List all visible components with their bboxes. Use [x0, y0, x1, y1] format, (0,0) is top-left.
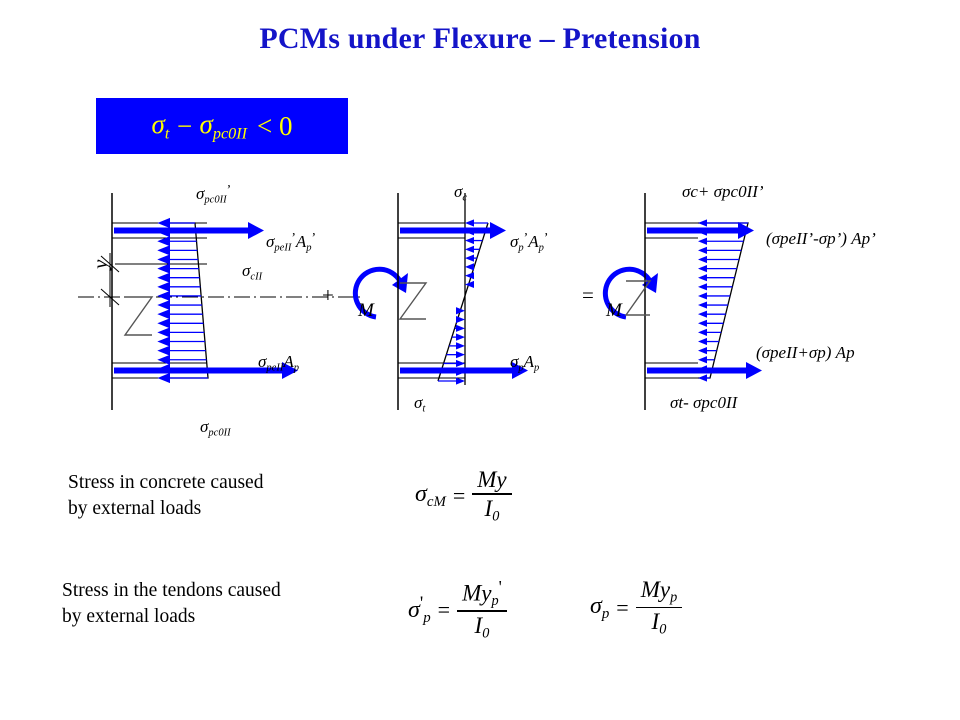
stress-arrow-12-head: [160, 329, 169, 336]
stress-arrow-13-head: [456, 334, 465, 341]
stress-profile-outline: [160, 223, 208, 378]
upper-tendon-arrowhead: [490, 222, 506, 239]
d3-top-force-label: (σpeII’-σp’) Ap’: [766, 229, 876, 249]
slide-root: PCMs under Flexure – Pretension σt − σpc…: [0, 0, 960, 720]
stress-arrow-6-head: [160, 274, 169, 281]
note-tendon-stress: Stress in the tendons caused by external…: [62, 578, 392, 630]
d2-bottom-label: σt: [414, 393, 425, 414]
note-concrete-line1: Stress in concrete caused: [68, 470, 368, 496]
stress-arrow-11-head: [456, 316, 465, 323]
d2-moment-label: M: [358, 300, 374, 322]
stress-arrow-4-head: [160, 256, 169, 263]
equation-sigma-cM-numerator: My: [472, 468, 511, 493]
equation-sigma-p-numerator: Myp: [636, 578, 683, 607]
d1-axis-label: σcII: [242, 261, 262, 282]
stress-arrow-group: [160, 219, 208, 381]
d2-bottom-force-label: σpAp: [510, 352, 539, 373]
equation-sigma-cM-fraction: My I0: [472, 468, 511, 524]
equation-sigma-p-relation: =: [616, 595, 628, 621]
equation-sigma-p-prime-lhs: σ'p: [408, 593, 431, 627]
d3-bottom-force-label: (σpeII+σp) Ap: [756, 343, 855, 363]
stress-arrow-15-head: [698, 356, 707, 363]
operator-plus: +: [322, 283, 334, 308]
equation-sigma-p-fraction: Myp I0: [636, 578, 683, 638]
stress-arrow-10-head: [160, 311, 169, 318]
stress-profile-line: [438, 223, 488, 381]
stress-arrow-15-head: [456, 351, 465, 358]
equation-sigma-p-prime-denominator: I0: [470, 612, 495, 642]
d1-bottom-label: σpc0II: [200, 417, 231, 438]
d1-top-force-label: σpeII’Ap’: [266, 230, 316, 254]
upper-tendon-arrowhead: [248, 222, 264, 239]
stress-arrow-4-head: [698, 256, 707, 263]
note-tendon-line2: by external loads: [62, 604, 392, 630]
stress-arrow-17-head: [160, 374, 169, 381]
inequality-box: σt − σpc0II < 0: [96, 98, 348, 154]
stress-arrow-group: [698, 219, 748, 381]
stress-arrow-14-head: [456, 342, 465, 349]
stress-arrow-5-head: [465, 263, 474, 270]
inequality-sigma-pc0II: σpc0II: [200, 109, 247, 144]
stress-arrow-8-head: [698, 292, 707, 299]
d1-top-label: σpc0II’: [196, 182, 231, 206]
stress-arrow-0-head: [160, 219, 169, 226]
stress-arrow-2-head: [698, 238, 707, 245]
stress-arrow-15-head: [160, 356, 169, 363]
d3-top-label: σc+ σpc0II’: [682, 182, 764, 202]
inequality-minus: −: [175, 111, 193, 142]
d2-top-force-label: σp’Ap’: [510, 230, 548, 254]
equation-sigma-p-prime-relation: =: [438, 597, 450, 623]
note-concrete-line2: by external loads: [68, 496, 368, 522]
stress-arrow-0-head: [465, 219, 474, 226]
diagram-prestress: σpc0II’ σcII σpeII’Ap’ σpeIIAp σpc0II y: [70, 185, 370, 435]
page-title: PCMs under Flexure – Pretension: [0, 22, 960, 56]
stress-arrow-3-head: [160, 247, 169, 254]
equation-sigma-cM-denominator: I0: [480, 495, 505, 525]
d3-moment-label: M: [606, 300, 622, 322]
stress-arrow-5-head: [160, 265, 169, 272]
stress-arrow-12-head: [698, 329, 707, 336]
stress-arrow-7-head: [698, 283, 707, 290]
stress-arrow-5-head: [698, 265, 707, 272]
equation-sigma-p: σp = Myp I0: [590, 578, 682, 638]
stress-arrow-13-head: [160, 338, 169, 345]
stress-arrow-7-head: [160, 283, 169, 290]
stress-arrow-2-head: [465, 237, 474, 244]
inequality-relation: < 0: [257, 111, 292, 142]
stress-profile-outline: [698, 223, 748, 378]
stress-arrow-17-head: [698, 374, 707, 381]
stress-arrow-12-head: [456, 325, 465, 332]
stress-arrow-6-head: [698, 274, 707, 281]
d1-y-dimension-label: y: [88, 260, 113, 269]
equation-sigma-cM-lhs: σcM: [415, 481, 446, 511]
stress-arrow-9-head: [698, 301, 707, 308]
stress-arrow-3-head: [698, 247, 707, 254]
stress-arrow-6-head: [465, 272, 474, 279]
centroid-symbol: [626, 281, 650, 315]
diagram-prestress-svg: [70, 185, 370, 435]
d1-bottom-force-label: σpeIIAp: [258, 352, 299, 373]
lower-tendon-arrowhead: [746, 362, 762, 379]
stress-arrow-11-head: [160, 320, 169, 327]
equation-sigma-p-prime-fraction: Myp' I0: [457, 578, 507, 641]
inequality-sigma-t: σt: [151, 109, 169, 144]
centroid-symbol: [125, 297, 152, 335]
operator-equals: =: [582, 283, 594, 308]
stress-arrow-16-head: [456, 360, 465, 367]
d3-bottom-label: σt- σpc0II: [670, 393, 737, 413]
d2-top-label: σc: [454, 182, 467, 203]
stress-arrow-14-head: [698, 347, 707, 354]
stress-arrow-11-head: [698, 320, 707, 327]
stress-arrow-3-head: [465, 246, 474, 253]
stress-arrow-9-head: [160, 301, 169, 308]
stress-arrow-4-head: [465, 255, 474, 262]
stress-arrow-2-head: [160, 238, 169, 245]
equation-sigma-p-prime: σ'p = Myp' I0: [408, 578, 507, 641]
upper-tendon-arrowhead: [738, 222, 754, 239]
note-tendon-line1: Stress in the tendons caused: [62, 578, 392, 604]
equation-sigma-p-prime-numerator: Myp': [457, 578, 507, 610]
equation-sigma-p-lhs: σp: [590, 593, 609, 623]
stress-arrow-8-head: [160, 292, 169, 299]
stress-arrow-0-head: [698, 219, 707, 226]
stress-arrow-13-head: [698, 338, 707, 345]
equation-sigma-cM-relation: =: [453, 483, 465, 509]
note-concrete-stress: Stress in concrete caused by external lo…: [68, 470, 368, 522]
tendon-force-arrows: [647, 222, 762, 379]
diagram-combined: σc+ σpc0II’ (σpeII’-σp’) Ap’ (σpeII+σp) …: [620, 185, 960, 435]
stress-arrow-14-head: [160, 347, 169, 354]
equation-sigma-cM: σcM = My I0: [415, 468, 512, 524]
equation-sigma-p-denominator: I0: [647, 608, 672, 638]
stress-arrow-10-head: [698, 311, 707, 318]
